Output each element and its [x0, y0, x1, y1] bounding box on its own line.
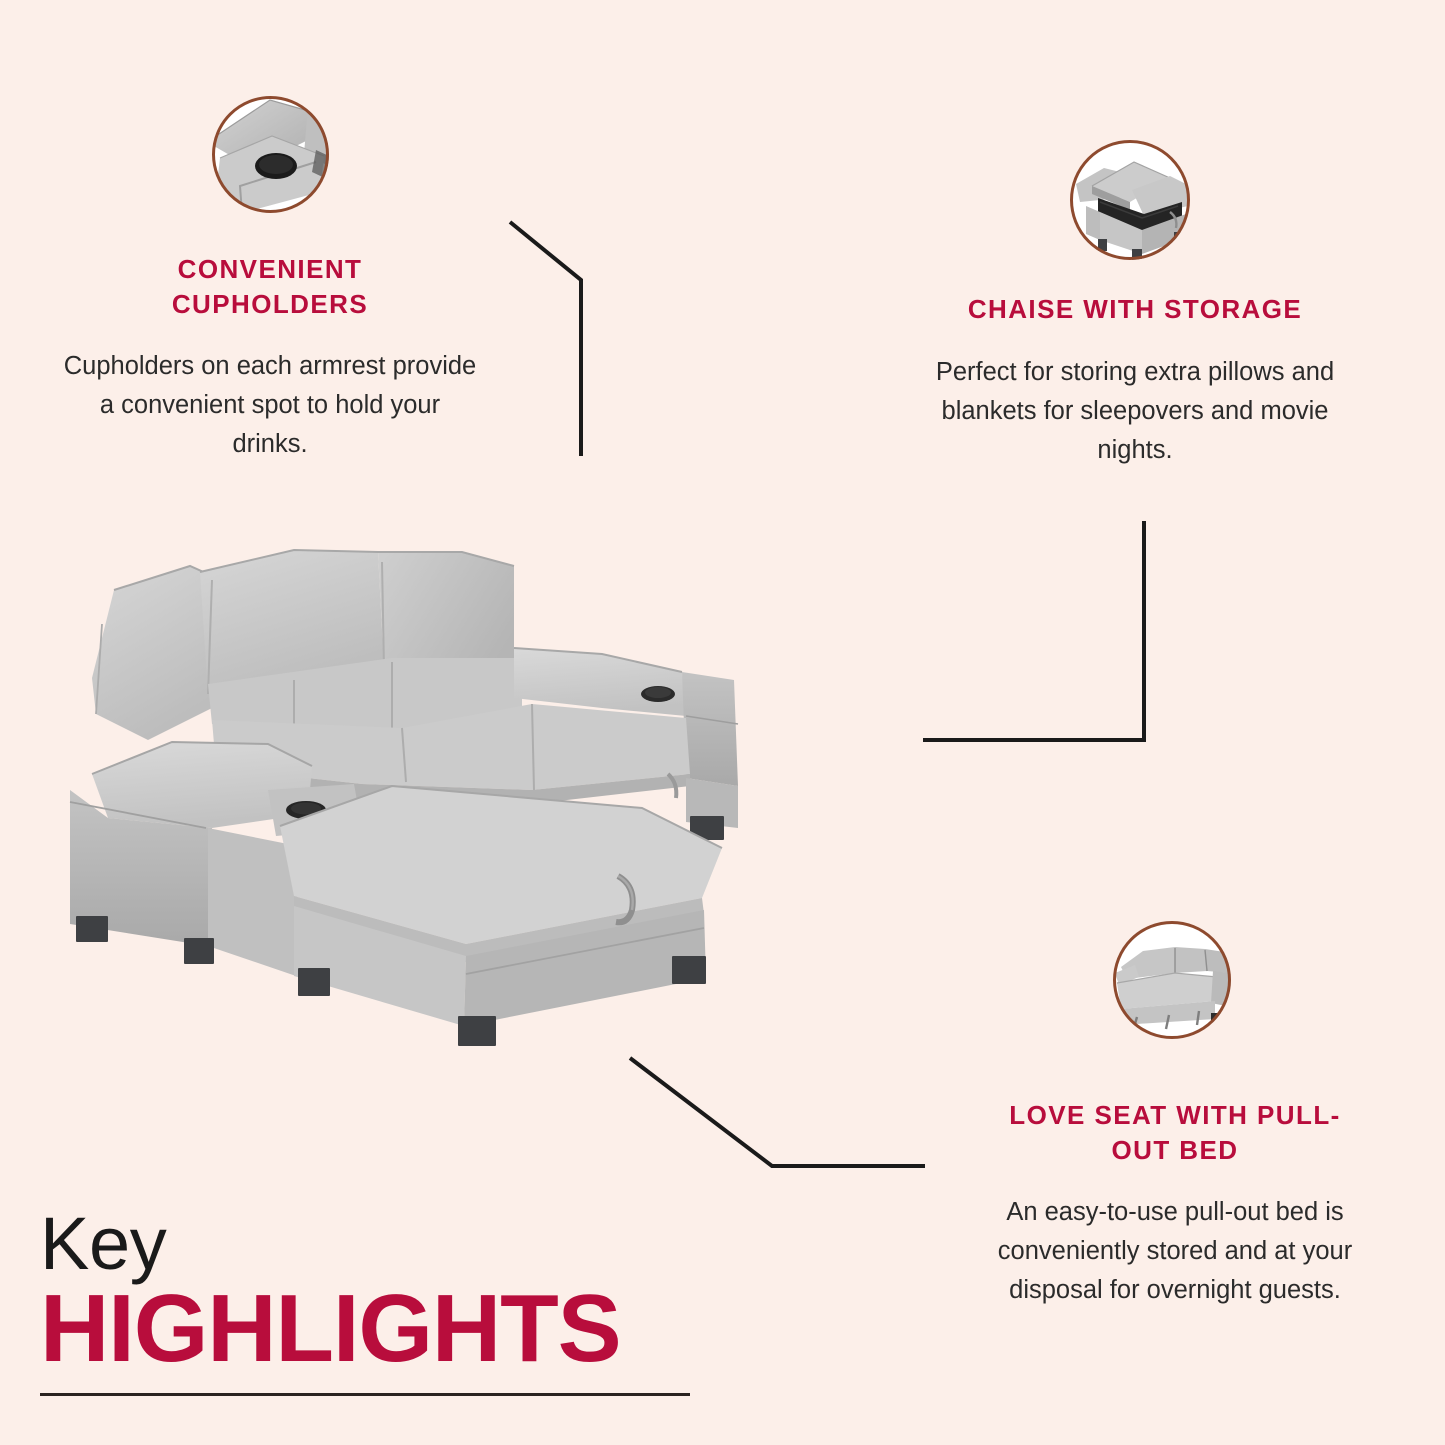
feature-body-convenient-cupholders: Cupholders on each armrest provide a con…: [60, 347, 480, 464]
feature-title-chaise-with-storage: CHAISE WITH STORAGE: [915, 292, 1355, 327]
feature-title-line-2: OUT BED: [1111, 1135, 1238, 1165]
feature-body-love-seat-pull-out-bed: An easy-to-use pull-out bed is convenien…: [955, 1193, 1395, 1310]
pull-out-bed-thumbnail: [1113, 921, 1231, 1039]
feature-title-line-1: CONVENIENT: [178, 254, 363, 284]
feature-title-love-seat-pull-out-bed: LOVE SEAT WITH PULL- OUT BED: [955, 1098, 1395, 1167]
feature-block-love-seat-pull-out-bed: LOVE SEAT WITH PULL- OUT BED An easy-to-…: [955, 1098, 1395, 1310]
feature-block-chaise-with-storage: CHAISE WITH STORAGE Perfect for storing …: [915, 292, 1355, 470]
connector-line-cupholders: [510, 222, 581, 456]
page-title-block: Key HIGHLIGHTS: [40, 1208, 740, 1396]
feature-block-convenient-cupholders: CONVENIENT CUPHOLDERS Cupholders on each…: [60, 252, 480, 464]
storage-chaise-open-thumbnail: [1070, 140, 1190, 260]
connector-line-pull-out-bed: [630, 1058, 925, 1166]
feature-title-convenient-cupholders: CONVENIENT CUPHOLDERS: [60, 252, 480, 321]
connector-line-chaise-storage: [923, 521, 1144, 740]
feature-body-chaise-with-storage: Perfect for storing extra pillows and bl…: [915, 353, 1355, 470]
page-title-key: Key: [40, 1208, 740, 1279]
product-image-sectional-sofa: [62, 528, 762, 1058]
feature-title-line-2: CUPHOLDERS: [172, 289, 368, 319]
title-underline-rule: [40, 1393, 690, 1396]
infographic-canvas: CONVENIENT CUPHOLDERS Cupholders on each…: [0, 0, 1445, 1445]
cupholder-closeup-thumbnail: [212, 96, 329, 213]
page-title-highlights: HIGHLIGHTS: [40, 1281, 740, 1377]
feature-title-line-1: LOVE SEAT WITH PULL-: [1009, 1100, 1340, 1130]
